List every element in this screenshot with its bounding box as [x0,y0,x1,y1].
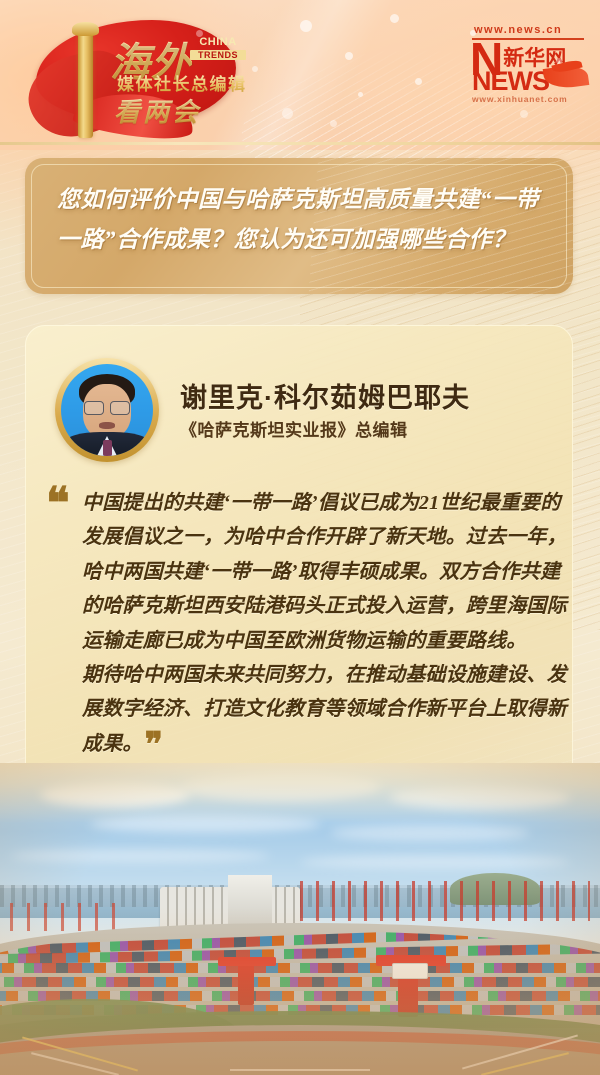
photo-vignette [0,763,600,1075]
bokeh-dot [520,110,528,118]
glasses-icon [83,401,131,413]
bokeh-dot [196,30,203,37]
speaker-title: 《哈萨克斯坦实业报》总编辑 [180,416,408,441]
avatar-mouth [99,422,115,429]
avatar-tie [103,440,112,456]
bokeh-dot [330,120,337,127]
quote-paragraph: 期待哈中两国未来共同努力，在推动基础设施建设、发展数字经济、打造文化教育等领域合… [82,658,574,761]
campaign-logo-english-sub: TRENDS [190,50,246,60]
avatar [55,358,159,462]
quote-open-mark: ❝ [46,482,70,526]
xinhua-url-bottom: www.xinhuanet.com [472,94,567,104]
port-photo [0,763,600,1075]
xinhua-brand-en: NEWS [472,66,549,97]
question-banner: 您如何评价中国与哈萨克斯坦高质量共建“一带一路”合作成果？您认为还可加强哪些合作… [25,158,573,294]
bokeh-dot [556,58,562,64]
poster-root: 海外 CHINA TRENDS 媒体社长总编辑 看两会 www.news.cn … [0,0,600,1075]
quote-paragraph: 中国提出的共建‘一带一路’倡议已成为21世纪最重要的发展倡议之一，为哈中合作开辟… [82,486,574,658]
campaign-logo-tagline: 看两会 [114,92,201,129]
header-divider [0,142,600,145]
speaker-name: 谢里克·科尔茹姆巴耶夫 [180,376,470,415]
bokeh-dot [470,30,476,36]
question-text: 您如何评价中国与哈萨克斯坦高质量共建“一带一路”合作成果？您认为还可加强哪些合作… [57,180,547,261]
xinhua-logo[interactable]: www.news.cn N 新华网 NEWS www.xinhuanet.com [466,24,586,102]
campaign-logo-english-main: CHINA [190,36,246,49]
bokeh-dot [252,66,258,72]
golden-pillar-cap-icon [72,22,99,36]
quote-body: 中国提出的共建‘一带一路’倡议已成为21世纪最重要的发展倡议之一，为哈中合作开辟… [82,486,574,761]
bokeh-dot [300,20,312,32]
campaign-logo-english: CHINA TRENDS [190,36,246,60]
bokeh-dot [415,78,422,85]
golden-pillar-icon [78,30,93,138]
campaign-logo: 海外 CHINA TRENDS 媒体社长总编辑 看两会 [22,8,252,136]
bokeh-dot [390,14,399,23]
bokeh-dot [358,92,363,97]
quote-close-mark: ❞ [145,727,164,764]
avatar-portrait [61,364,153,456]
bokeh-dot [345,52,353,60]
bokeh-dot [282,108,293,119]
